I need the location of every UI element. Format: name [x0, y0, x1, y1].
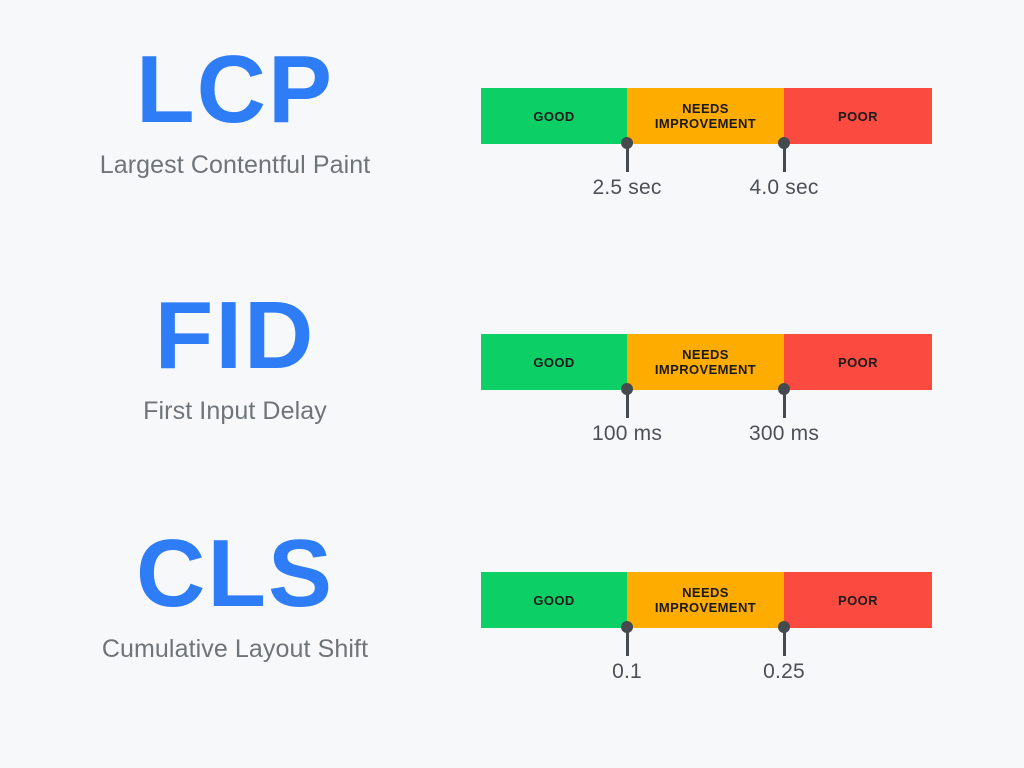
ni-line2-lcp: IMPROVEMENT [655, 116, 756, 131]
gauge-segment-good-cls: GOOD [481, 572, 627, 628]
threshold-value-2-fid: 300 ms [749, 422, 819, 446]
gauge-segment-ni-text-cls: NEEDSIMPROVEMENT [655, 585, 756, 615]
threshold-value-1-lcp: 2.5 sec [592, 176, 661, 200]
threshold-gauge-lcp: GOOD NEEDSIMPROVEMENT POOR 2.5 sec 4.0 s… [481, 88, 932, 218]
gauge-segment-poor-fid: POOR [784, 334, 932, 390]
gauge-segment-poor-cls: POOR [784, 572, 932, 628]
metric-fullname-cls: Cumulative Layout Shift [40, 626, 430, 664]
metric-abbreviation-fid: FID [40, 284, 430, 388]
core-web-vitals-infographic: LCP Largest Contentful Paint GOOD NEEDSI… [0, 0, 1024, 768]
threshold-gauge-fid: GOOD NEEDSIMPROVEMENT POOR 100 ms 300 ms [481, 334, 932, 464]
metric-fullname-fid: First Input Delay [40, 388, 430, 426]
gauge-segment-ni-text-fid: NEEDSIMPROVEMENT [655, 347, 756, 377]
ni-line1-fid: NEEDS [682, 347, 729, 362]
ni-line2-cls: IMPROVEMENT [655, 600, 756, 615]
metric-row-cls: CLS Cumulative Layout Shift GOOD NEEDSIM… [0, 522, 1024, 768]
gauge-bar-cls: GOOD NEEDSIMPROVEMENT POOR [481, 572, 932, 628]
pin-stem-icon [626, 144, 629, 172]
metric-label-block-cls: CLS Cumulative Layout Shift [40, 522, 430, 664]
metric-row-fid: FID First Input Delay GOOD NEEDSIMPROVEM… [0, 284, 1024, 530]
pin-stem-icon [626, 390, 629, 418]
ni-line1-lcp: NEEDS [682, 101, 729, 116]
pin-stem-icon [783, 628, 786, 656]
gauge-segment-good-fid: GOOD [481, 334, 627, 390]
threshold-value-1-cls: 0.1 [612, 660, 642, 684]
ni-line1-cls: NEEDS [682, 585, 729, 600]
threshold-value-1-fid: 100 ms [592, 422, 662, 446]
gauge-segment-needs-improvement-cls: NEEDSIMPROVEMENT [627, 572, 784, 628]
gauge-segment-good-lcp: GOOD [481, 88, 627, 144]
pin-stem-icon [626, 628, 629, 656]
metric-abbreviation-lcp: LCP [40, 38, 430, 142]
gauge-segment-ni-text-lcp: NEEDSIMPROVEMENT [655, 101, 756, 131]
pin-stem-icon [783, 144, 786, 172]
metric-row-lcp: LCP Largest Contentful Paint GOOD NEEDSI… [0, 38, 1024, 284]
metric-label-block-fid: FID First Input Delay [40, 284, 430, 426]
gauge-bar-fid: GOOD NEEDSIMPROVEMENT POOR [481, 334, 932, 390]
threshold-value-2-lcp: 4.0 sec [749, 176, 818, 200]
ni-line2-fid: IMPROVEMENT [655, 362, 756, 377]
gauge-segment-poor-lcp: POOR [784, 88, 932, 144]
pin-stem-icon [783, 390, 786, 418]
threshold-value-2-cls: 0.25 [763, 660, 805, 684]
gauge-bar-lcp: GOOD NEEDSIMPROVEMENT POOR [481, 88, 932, 144]
metric-abbreviation-cls: CLS [40, 522, 430, 626]
gauge-segment-needs-improvement-fid: NEEDSIMPROVEMENT [627, 334, 784, 390]
metric-fullname-lcp: Largest Contentful Paint [40, 142, 430, 180]
gauge-segment-needs-improvement-lcp: NEEDSIMPROVEMENT [627, 88, 784, 144]
metric-label-block-lcp: LCP Largest Contentful Paint [40, 38, 430, 180]
threshold-gauge-cls: GOOD NEEDSIMPROVEMENT POOR 0.1 0.25 [481, 572, 932, 702]
